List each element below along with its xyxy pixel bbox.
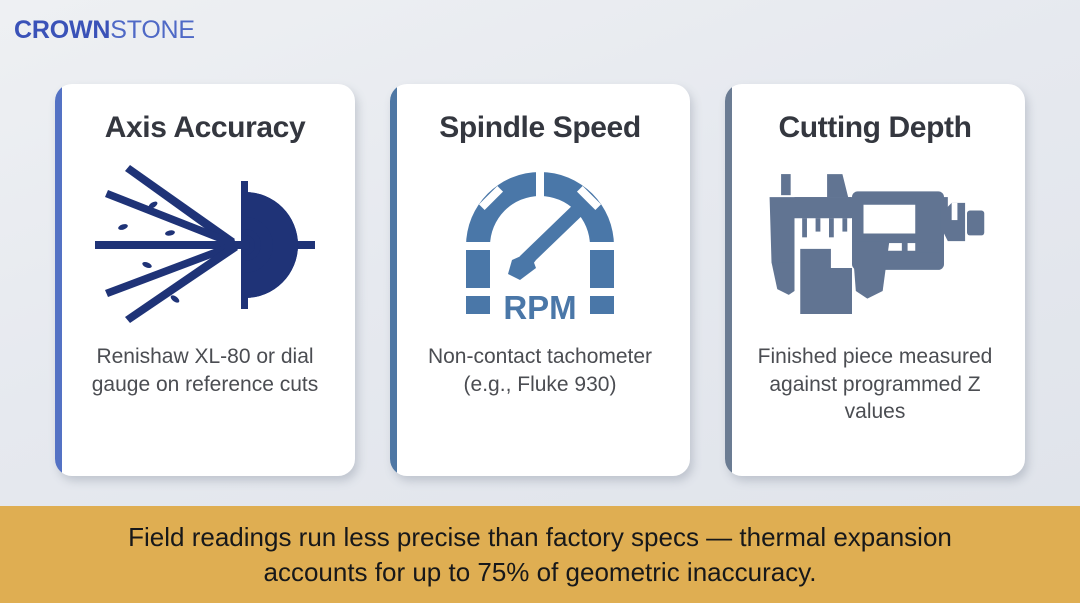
card-accent-bar (725, 84, 732, 476)
card-title: Axis Accuracy (105, 111, 305, 144)
card-cutting-depth[interactable]: Cutting Depth (725, 84, 1025, 476)
card-spindle-speed[interactable]: Spindle Speed (390, 84, 690, 476)
rpm-gauge-label: RPM (503, 289, 576, 326)
brand-logo-light: STONE (110, 16, 195, 44)
card-description: Non-contact tachometer (e.g., Fluke 930) (418, 343, 663, 398)
digital-caliper-icon (760, 162, 990, 327)
target-bullseye-icon (90, 162, 320, 327)
rpm-gauge-icon: RPM (425, 162, 655, 327)
brand-logo-bold: CROWN (14, 16, 110, 44)
card-description: Finished piece measured against programm… (753, 343, 998, 426)
card-accent-bar (55, 84, 62, 476)
cards-row: Axis Accuracy (0, 84, 1080, 478)
footer-banner-text: Field readings run less precise than fac… (100, 520, 980, 589)
card-description: Renishaw XL-80 or dial gauge on referenc… (83, 343, 328, 398)
footer-banner: Field readings run less precise than fac… (0, 506, 1080, 603)
card-title: Cutting Depth (778, 111, 971, 144)
card-accent-bar (390, 84, 397, 476)
brand-logo: CROWNSTONE (14, 18, 195, 43)
card-axis-accuracy[interactable]: Axis Accuracy (55, 84, 355, 476)
card-title: Spindle Speed (439, 111, 641, 144)
